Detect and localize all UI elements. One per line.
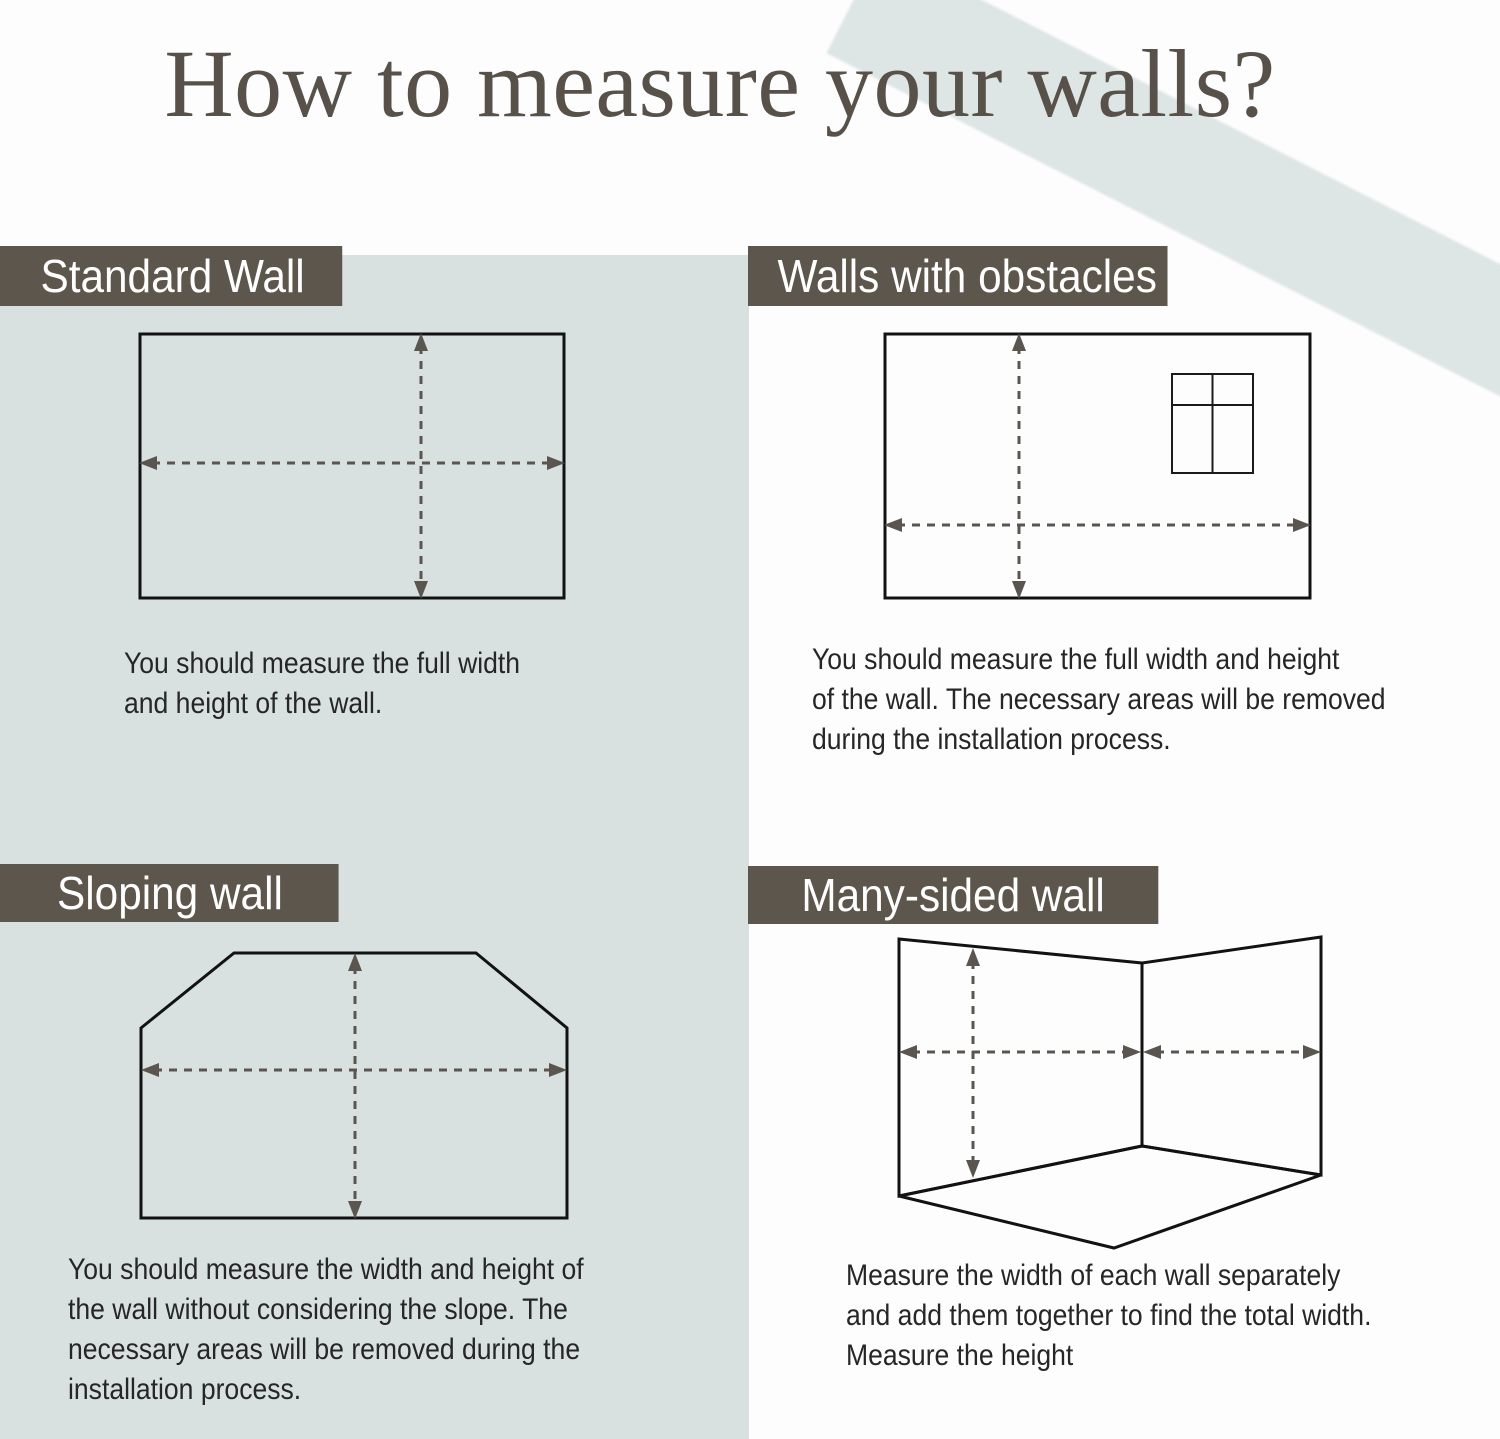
- diagram-many-sided-wall: [870, 920, 1340, 1265]
- section-header-sloping-wall: Sloping wall: [0, 864, 339, 922]
- infographic-page: How to measure your walls? Standard Wall…: [0, 0, 1500, 1439]
- caption-many-sided-wall: Measure the width of each wall separatel…: [846, 1256, 1500, 1376]
- caption-sloping-wall: You should measure the width and height …: [68, 1250, 698, 1410]
- caption-walls-with-obstacles: You should measure the full width and he…: [812, 640, 1496, 760]
- diagram-sloping-wall: [110, 930, 610, 1255]
- diagram-wall-with-obstacles: [860, 320, 1340, 625]
- caption-standard-wall: You should measure the full width and he…: [124, 644, 700, 724]
- height-dimension-arrow: [348, 953, 362, 1219]
- section-header-walls-with-obstacles: Walls with obstacles: [748, 246, 1168, 306]
- page-title: How to measure your walls?: [0, 32, 1440, 136]
- diagram-standard-wall: [120, 320, 590, 625]
- corner-room-outline: [899, 937, 1321, 1248]
- height-dimension-arrow: [966, 948, 980, 1178]
- window-obstacle-icon: [1172, 374, 1253, 473]
- width-dimension-arrow-right-wall: [1143, 1045, 1321, 1059]
- width-dimension-arrow-left-wall: [899, 1045, 1141, 1059]
- section-header-many-sided-wall: Many-sided wall: [748, 866, 1158, 924]
- height-dimension-arrow: [1012, 333, 1026, 599]
- width-dimension-arrow: [884, 518, 1311, 532]
- width-dimension-arrow: [139, 456, 565, 470]
- section-header-standard-wall: Standard Wall: [0, 246, 342, 306]
- height-dimension-arrow: [414, 333, 428, 599]
- wall-outline-rect: [140, 334, 564, 598]
